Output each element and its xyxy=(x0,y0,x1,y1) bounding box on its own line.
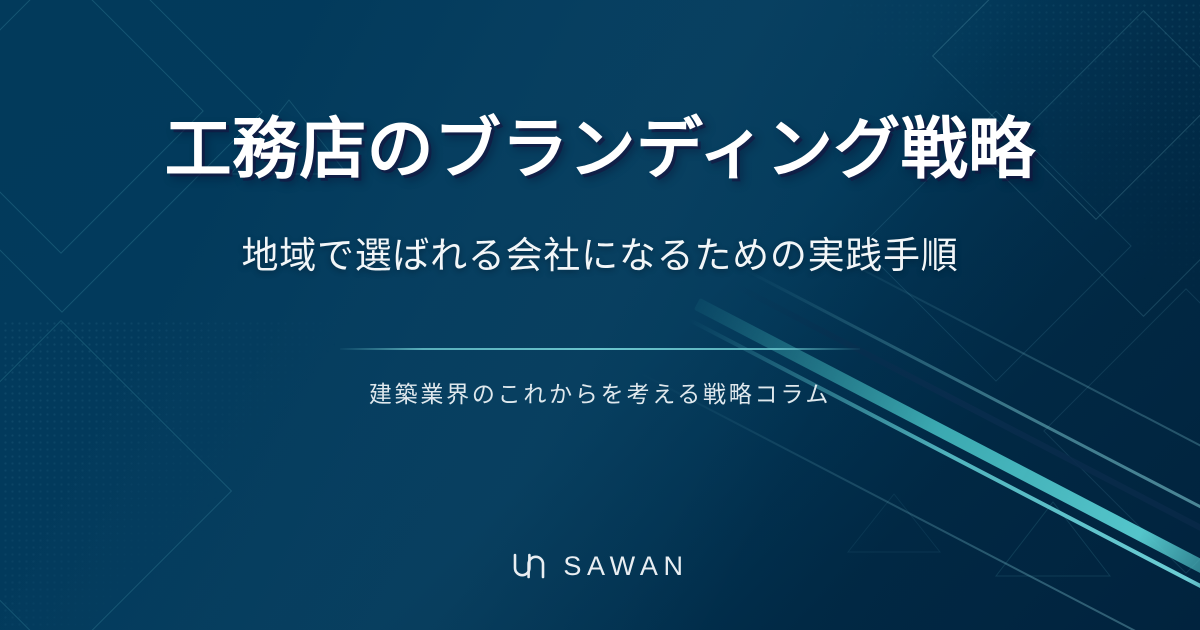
page-tagline: 建築業界のこれからを考える戦略コラム xyxy=(0,375,1200,409)
brand-logo-text: SAWAN xyxy=(563,553,688,580)
card-content: 工務店のブランディング戦略 地域で選ばれる会社になるための実践手順 建築業界のこ… xyxy=(0,0,1200,630)
sawan-monogram-icon xyxy=(511,551,547,581)
divider-rule xyxy=(340,348,860,350)
page-title: 工務店のブランディング戦略 xyxy=(0,110,1200,189)
page-subtitle: 地域で選ばれる会社になるための実践手順 xyxy=(0,232,1200,280)
brand-logo: SAWAN xyxy=(0,551,1200,581)
og-card: 工務店のブランディング戦略 地域で選ばれる会社になるための実践手順 建築業界のこ… xyxy=(0,0,1200,630)
